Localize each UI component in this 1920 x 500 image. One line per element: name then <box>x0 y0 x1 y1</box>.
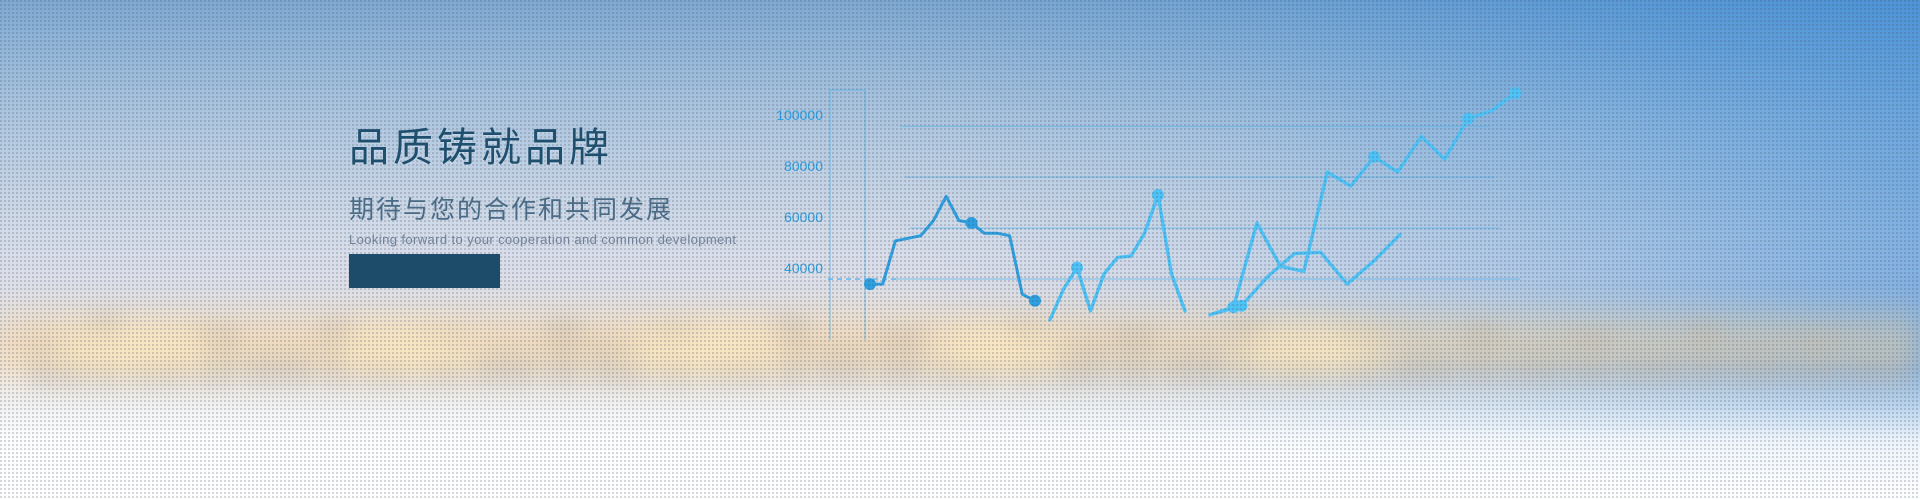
chart-series-layer <box>864 87 1521 320</box>
line-chart: 400006000080000100000 <box>760 80 1520 340</box>
chart-line-series-2 <box>1050 195 1185 320</box>
chart-data-point <box>1029 295 1041 307</box>
chart-ytick-label: 80000 <box>784 158 823 174</box>
chart-ytick-label: 40000 <box>784 260 823 276</box>
hero-subtitle-english: Looking forward to your cooperation and … <box>349 233 736 246</box>
chart-axis <box>830 90 865 340</box>
chart-data-point <box>1509 87 1521 99</box>
cta-button[interactable] <box>349 254 500 288</box>
glow-spot <box>330 330 480 370</box>
chart-canvas: 400006000080000100000 <box>760 80 1520 360</box>
page-title: 品质铸就品牌 <box>349 128 736 168</box>
chart-data-point <box>864 278 876 290</box>
bottom-fade <box>0 370 1920 500</box>
chart-data-point <box>966 217 978 229</box>
chart-data-point <box>1071 262 1083 274</box>
hero-banner: 400006000080000100000 品质铸就品牌 期待与您的合作和共同发… <box>0 0 1920 500</box>
chart-data-point <box>1368 151 1380 163</box>
chart-data-point <box>1235 300 1247 312</box>
chart-gridlines <box>828 126 1520 279</box>
hero-text-block: 品质铸就品牌 期待与您的合作和共同发展 Looking forward to y… <box>349 128 736 246</box>
chart-line-series-1 <box>870 196 1035 300</box>
hero-subtitle: 期待与您的合作和共同发展 <box>349 198 736 223</box>
chart-ytick-label: 100000 <box>776 107 823 123</box>
chart-ytick-labels: 400006000080000100000 <box>776 107 823 276</box>
glow-spot <box>40 330 220 370</box>
chart-data-point <box>1462 113 1474 125</box>
chart-ytick-label: 60000 <box>784 209 823 225</box>
chart-data-point <box>1152 189 1164 201</box>
